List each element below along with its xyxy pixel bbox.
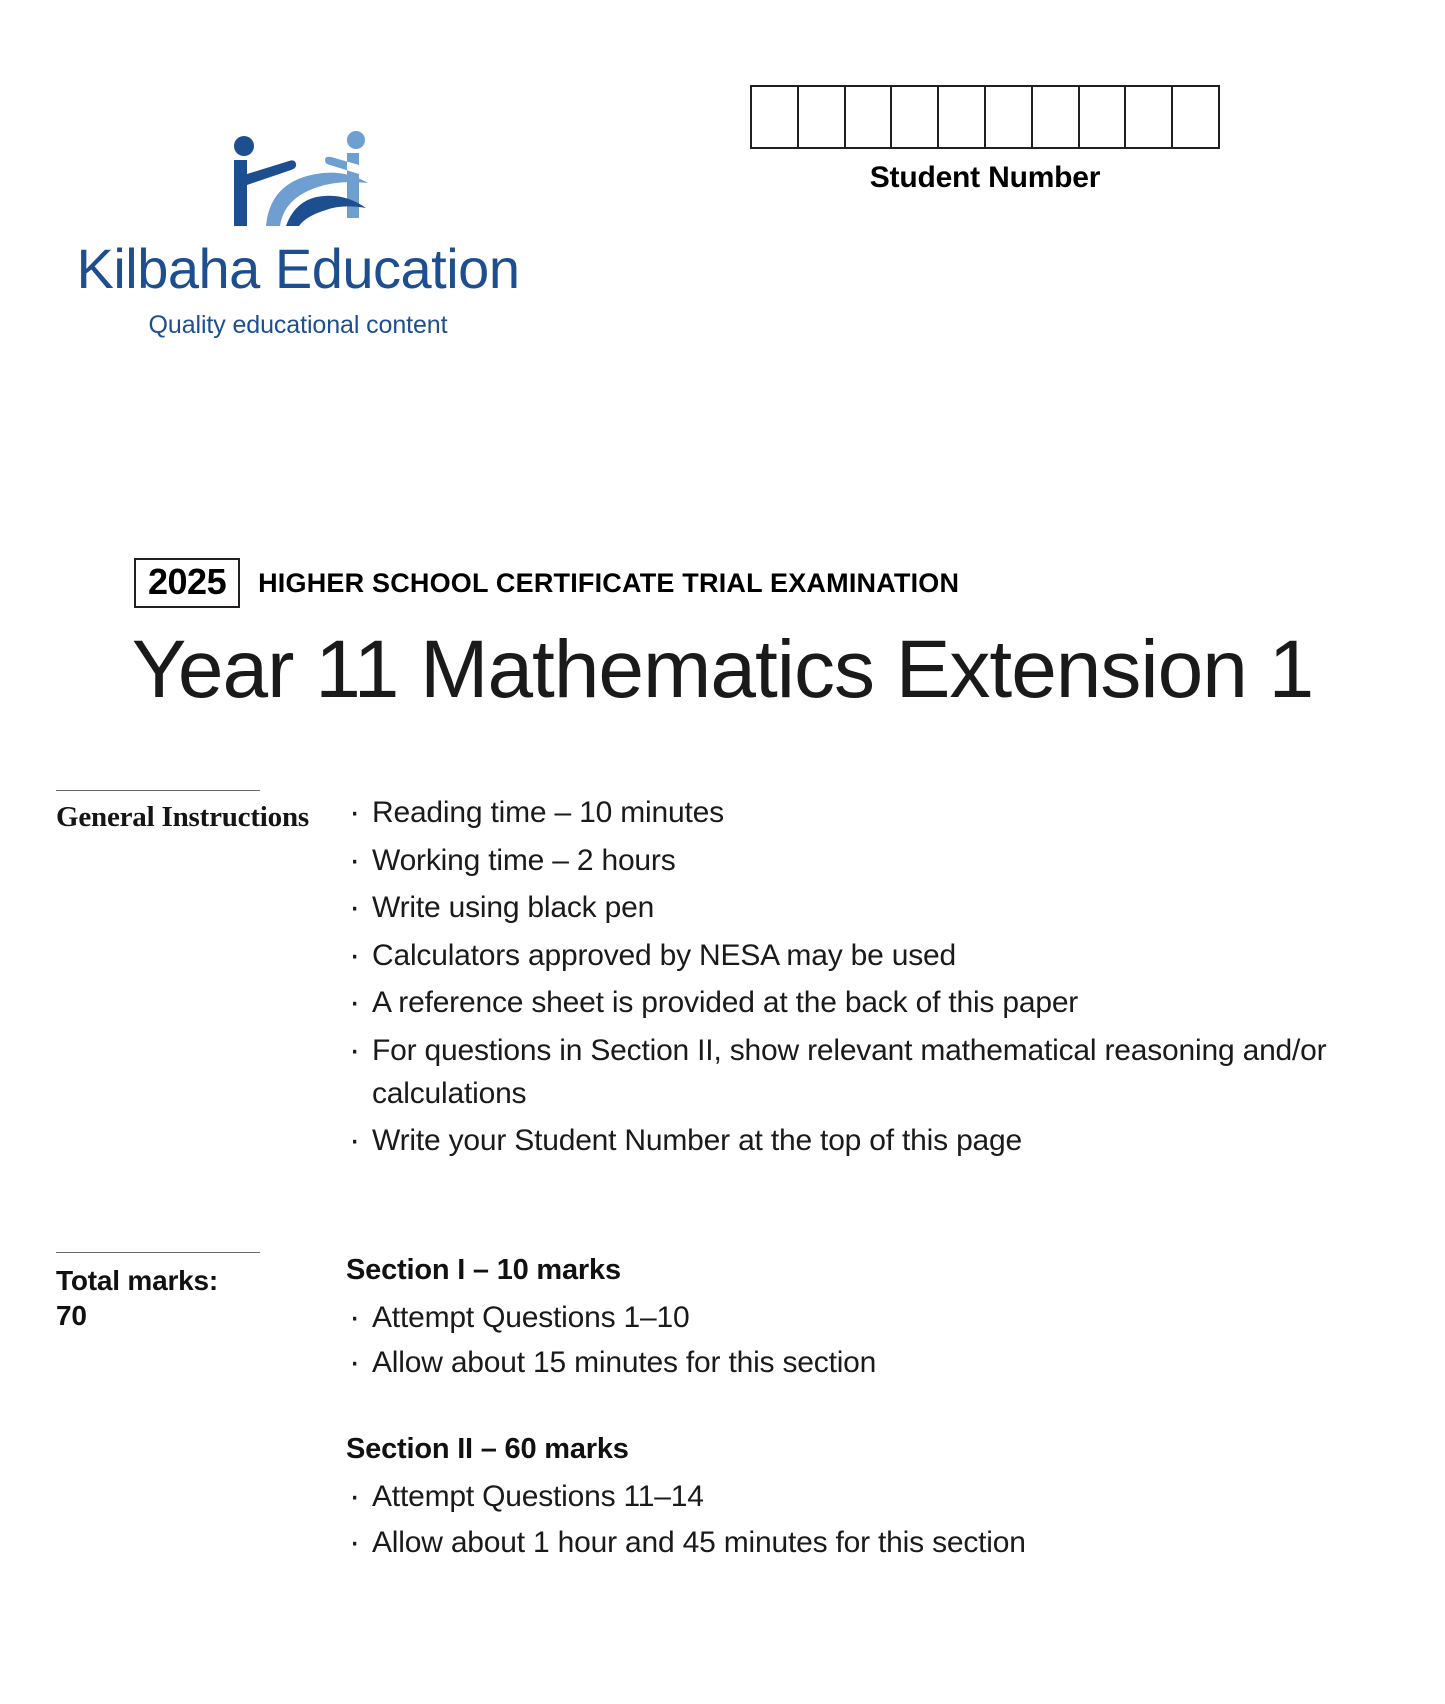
instruction-item: Write using black pen — [346, 887, 1386, 930]
label-rule — [56, 790, 260, 791]
general-instructions-row: General Instructions Reading time – 10 m… — [56, 790, 1386, 1168]
exam-header: 2025 HIGHER SCHOOL CERTIFICATE TRIAL EXA… — [134, 558, 959, 608]
student-number-cell[interactable] — [1126, 87, 1173, 147]
general-instructions-label-col: General Instructions — [56, 790, 346, 834]
section-item: Attempt Questions 11–14 — [346, 1476, 1386, 1519]
logo-tagline: Quality educational content — [68, 311, 528, 340]
instruction-item: For questions in Section II, show releva… — [346, 1030, 1386, 1115]
section-heading: Section I – 10 marks — [346, 1254, 1386, 1287]
logo-name: Kilbaha Education — [68, 240, 528, 299]
student-number-cell[interactable] — [1173, 87, 1218, 147]
label-rule — [56, 1252, 260, 1253]
instruction-item: Working time – 2 hours — [346, 840, 1386, 883]
two-figures-bridge-icon — [208, 130, 388, 226]
total-marks-row: Total marks: 70 Section I – 10 marksAtte… — [56, 1252, 1386, 1567]
section-item: Allow about 1 hour and 45 minutes for th… — [346, 1522, 1386, 1565]
student-number-boxes[interactable] — [750, 85, 1220, 149]
section-block: Section I – 10 marksAttempt Questions 1–… — [346, 1254, 1386, 1385]
student-number-cell[interactable] — [752, 87, 799, 147]
section-block: Section II – 60 marksAttempt Questions 1… — [346, 1433, 1386, 1564]
section-heading: Section II – 60 marks — [346, 1433, 1386, 1466]
total-marks-value: 70 — [56, 1298, 330, 1333]
student-number-cell[interactable] — [799, 87, 846, 147]
general-instructions-label: General Instructions — [56, 801, 330, 834]
instruction-item: Calculators approved by NESA may be used — [346, 935, 1386, 978]
general-instructions-content: Reading time – 10 minutesWorking time – … — [346, 790, 1386, 1168]
exam-kind: HIGHER SCHOOL CERTIFICATE TRIAL EXAMINAT… — [258, 568, 959, 599]
section-item: Attempt Questions 1–10 — [346, 1297, 1386, 1340]
total-marks-label-col: Total marks: 70 — [56, 1252, 346, 1333]
section-list: Attempt Questions 1–10Allow about 15 min… — [346, 1297, 1386, 1385]
exam-info-grid: General Instructions Reading time – 10 m… — [56, 790, 1386, 1567]
student-number-cell[interactable] — [892, 87, 939, 147]
student-number-cell[interactable] — [939, 87, 986, 147]
brand-logo: Kilbaha Education Quality educational co… — [68, 130, 528, 340]
instruction-item: Reading time – 10 minutes — [346, 792, 1386, 835]
student-number-block: Student Number — [750, 85, 1220, 195]
instruction-item: Write your Student Number at the top of … — [346, 1120, 1386, 1163]
page-title: Year 11 Mathematics Extension 1 — [0, 625, 1445, 715]
total-marks-label: Total marks: — [56, 1263, 330, 1298]
student-number-cell[interactable] — [986, 87, 1033, 147]
section-item: Allow about 15 minutes for this section — [346, 1342, 1386, 1385]
section-list: Attempt Questions 11–14Allow about 1 hou… — [346, 1476, 1386, 1564]
exam-cover-page: Student Number Kilbaha Education Quality… — [0, 0, 1445, 1704]
general-instructions-list: Reading time – 10 minutesWorking time – … — [346, 792, 1386, 1163]
exam-year: 2025 — [134, 558, 240, 608]
instruction-item: A reference sheet is provided at the bac… — [346, 982, 1386, 1025]
student-number-cell[interactable] — [846, 87, 893, 147]
sections-content: Section I – 10 marksAttempt Questions 1–… — [346, 1252, 1386, 1567]
student-number-label: Student Number — [750, 161, 1220, 195]
student-number-cell[interactable] — [1033, 87, 1080, 147]
student-number-cell[interactable] — [1080, 87, 1127, 147]
